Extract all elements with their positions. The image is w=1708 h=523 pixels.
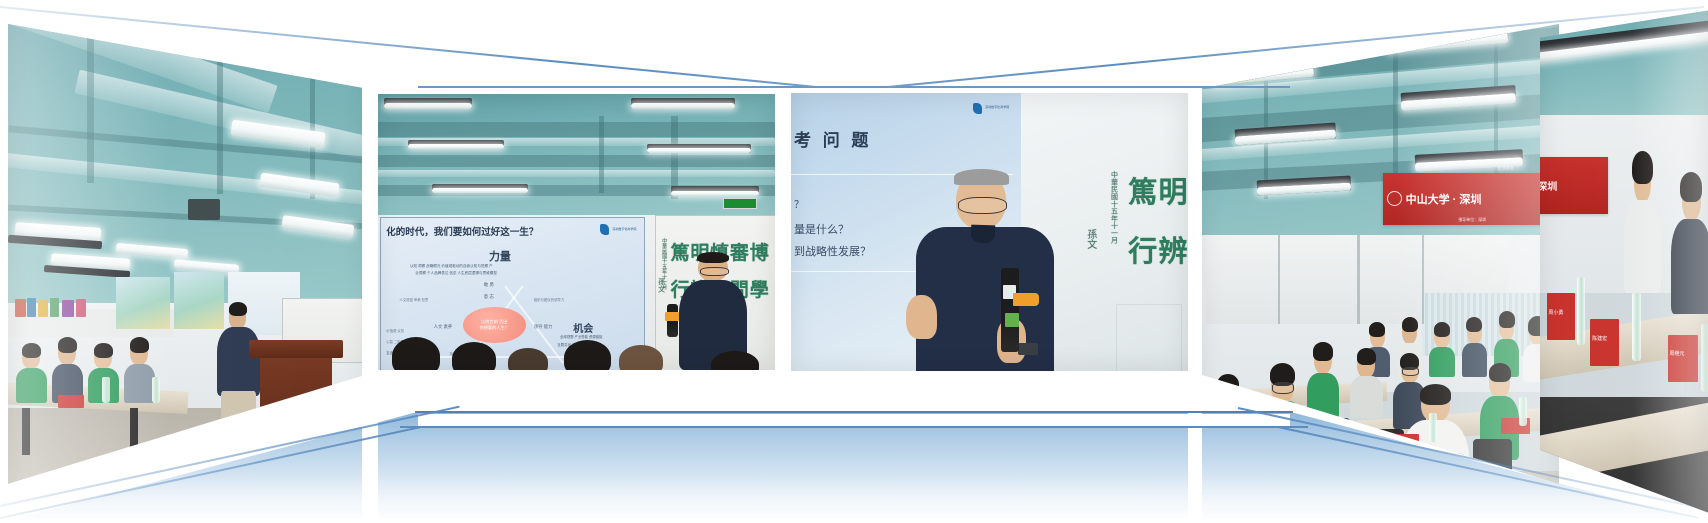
far-nameplate-2-text: 陈建宏: [1592, 335, 1607, 342]
center-calligraphy-line-1: 篤明: [1128, 179, 1188, 209]
screen-brand-logo: 深圳数字化商学院: [600, 224, 636, 235]
slide-separator-left: [362, 0, 378, 523]
screen-apex-label: 力量: [489, 248, 511, 264]
screen-logo-text: 深圳数字化商学院: [612, 228, 636, 232]
gallery-slide-inner-left[interactable]: 深圳数字化商学院 化的时代，我们要如何过好这一生？ 力量 认知 洞察 战略眼光 …: [376, 94, 775, 370]
event-banner-text: 中山大学 · 深圳: [1406, 191, 1482, 207]
pyramid-apex-sub-2: 意 志: [484, 294, 494, 300]
center-screen-bullet-2: 到战略性发展？: [794, 243, 871, 259]
top-white-mask: [0, 0, 1708, 6]
screen-apex-note-2: 业洞察 个人品牌表达 信念 人生底层逻辑与思维模型: [415, 271, 497, 276]
far-nameplate-3: [1668, 335, 1698, 382]
pyramid-left-tail-note: 价值观 认知: [386, 328, 404, 333]
gallery-slide-far-right[interactable]: 深圳 周小勇 陈建宏 周继元: [1540, 0, 1708, 523]
center-microphone: [1001, 268, 1019, 351]
event-banner-sub-bottom: 指导单位：深圳: [1458, 217, 1486, 223]
far-nameplate-3-text: 周继元: [1669, 350, 1684, 357]
screen-title: 化的时代，我们要如何过好这一生？: [386, 224, 538, 238]
speaker-hand: [906, 295, 937, 339]
speaker-watch: [1018, 343, 1037, 355]
foreground-head-2: [452, 342, 496, 370]
brand-mark-icon: [600, 224, 609, 235]
perspective-band: [418, 414, 1290, 426]
pyramid-base-edge: [415, 356, 580, 358]
pyramid-left-label: 人文 素养: [434, 324, 453, 330]
speaker-glasses-icon: [958, 197, 1008, 214]
glasses-icon: [700, 267, 729, 276]
foreground-head-1: [392, 337, 440, 370]
perspective-line-floor-front: [400, 426, 1308, 428]
center-screen-bullet-0: ？: [794, 196, 804, 211]
far-right-banner: 深圳: [1540, 157, 1608, 215]
center-speaker-figure: [925, 171, 1044, 371]
center-calligraphy-signature: 孫文: [1085, 229, 1095, 250]
center-mic-flag: [1013, 293, 1039, 306]
mic-accent-band: [1005, 313, 1019, 327]
slide-separator-mid: [775, 80, 791, 380]
photo-far-right: 深圳 周小勇 陈建宏 周继元: [1540, 0, 1708, 523]
far-right-banner-text: 深圳: [1540, 178, 1557, 193]
pyramid-right-note: 组织与团队的领导力: [534, 297, 565, 302]
pyramid-right-label: 领导 能力: [534, 324, 553, 330]
far-nameplate-2: [1590, 319, 1619, 366]
brand-mark-icon: [973, 103, 982, 114]
bottom-white-mask: [0, 519, 1708, 523]
photo-inner-left: 深圳数字化商学院 化的时代，我们要如何过好这一生？ 力量 认知 洞察 战略眼光 …: [376, 94, 775, 370]
foreground-head-5: [619, 345, 663, 370]
gallery-slide-center[interactable]: 深圳数字化商学院 考 问 题 ？ 量是什么？ 到战略性发展？ 篤明 行辨 中華民…: [790, 93, 1188, 371]
perspective-line-top-mid: [418, 86, 1290, 88]
photo-gallery-stage: 深圳数字化商学院 化的时代，我们要如何过好这一生？ 力量 认知 洞察 战略眼光 …: [0, 0, 1708, 523]
water-bottle-2: [1429, 413, 1437, 442]
exit-sign: [723, 198, 757, 210]
center-calligraphy-side-column: 中華民國十五年十一月: [1110, 171, 1117, 244]
center-calligraphy-line-2: 行辨: [1128, 238, 1188, 268]
mic-flag: [665, 312, 679, 321]
water-bottle-3: [1519, 397, 1527, 425]
screen-opportunity-label: 机会: [573, 320, 593, 335]
calligraphy-signature: 孫文: [657, 278, 664, 293]
far-water-bottle-1: [1577, 277, 1585, 345]
center-screen-logo-text: 深圳数字化商学院: [985, 106, 1009, 110]
center-screen-brand-logo: 深圳数字化商学院: [973, 103, 1009, 114]
center-wall-building-outline: [1116, 304, 1182, 371]
perspective-line-bottom-mid: [415, 411, 1293, 413]
event-banner-sub-top: 企业家班: [1498, 165, 1514, 171]
center-screen-title: 考 问 题: [794, 126, 872, 151]
screen-apex-note-1: 认知 洞察 战略眼光 价值观驱动的自我认知与觉察 产: [410, 264, 493, 269]
slide-separator-right: [1188, 0, 1202, 523]
core-text-2: 你想要的人生？: [480, 325, 509, 331]
pyramid-apex-sub-1: 敢 勇: [484, 282, 494, 288]
university-seal-icon: [1387, 191, 1402, 206]
far-water-bottle-3: [1701, 324, 1708, 392]
center-screen-bullet-1: 量是什么？: [794, 221, 849, 237]
far-nameplate-1-text: 周小勇: [1548, 309, 1563, 316]
pyramid-left-note: 人文底蕴 审美 哲思: [399, 297, 428, 302]
far-nameplate-1: [1547, 293, 1576, 340]
photo-center: 深圳数字化商学院 考 问 题 ？ 量是什么？ 到战略性发展？ 篤明 行辨 中華民…: [790, 93, 1188, 371]
foreground-head-3: [508, 348, 548, 370]
far-water-bottle-2: [1632, 293, 1640, 361]
screen-opportunity-note-1: 全球视野 产业势能 资源链接: [560, 334, 602, 339]
pyramid-core-circle: 以终为始 活出 你想要的人生？: [463, 307, 526, 344]
